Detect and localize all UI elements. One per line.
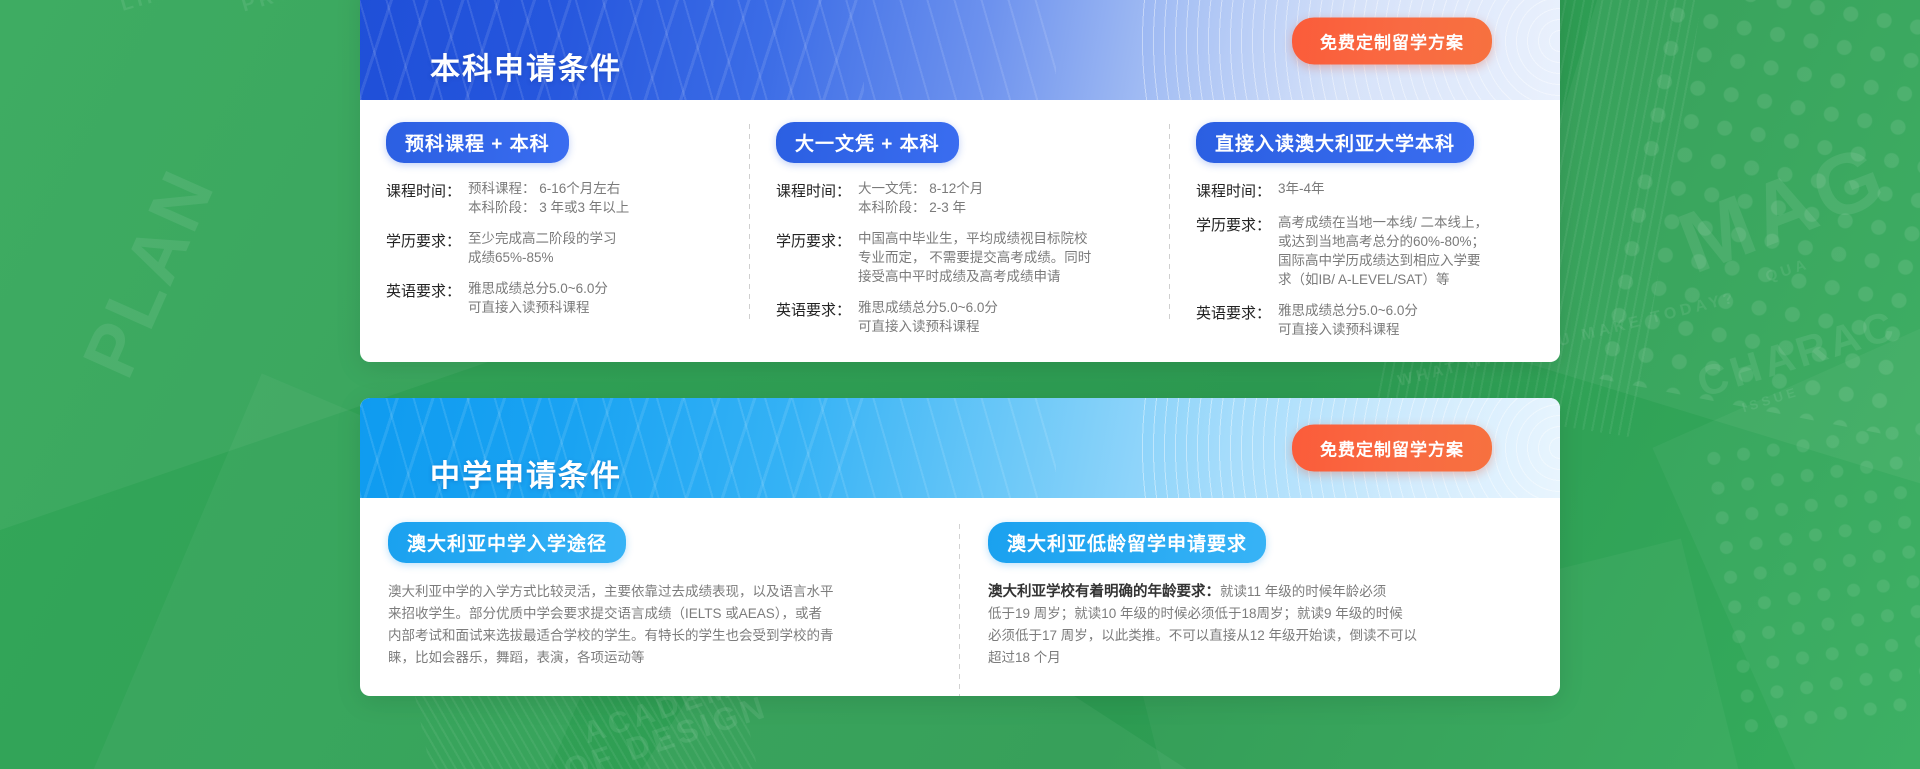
- requirement-row: 课程时间： 3年-4年: [1196, 179, 1534, 201]
- requirement-row: 课程时间： 预科课程： 6-16个月左右 本科阶段： 3 年或3 年以上: [386, 179, 724, 217]
- free-custom-plan-button-secondary[interactable]: 免费定制留学方案: [1292, 425, 1492, 472]
- requirement-row: 英语要求： 雅思成绩总分5.0~6.0分 可直接入读预科课程: [776, 298, 1144, 336]
- undergraduate-column-foundation: 预科课程 + 本科 课程时间： 预科课程： 6-16个月左右 本科阶段： 3 年…: [360, 122, 750, 351]
- pathway-pill-entry-routes: 澳大利亚中学入学途径: [388, 522, 626, 563]
- requirement-row: 学历要求： 至少完成高二阶段的学习 成绩65%-85%: [386, 229, 724, 267]
- row-value: 雅思成绩总分5.0~6.0分 可直接入读预科课程: [851, 298, 998, 336]
- requirement-rows: 课程时间： 3年-4年 学历要求： 高考成绩在当地一本线/ 二本线上， 或达到当…: [1196, 179, 1534, 339]
- undergraduate-column-direct-entry: 直接入读澳大利亚大学本科 课程时间： 3年-4年 学历要求： 高考成绩在当地一本…: [1170, 122, 1560, 351]
- row-label: 英语要求：: [776, 298, 851, 336]
- pathway-pill-direct-entry: 直接入读澳大利亚大学本科: [1196, 122, 1474, 163]
- secondary-columns: 澳大利亚中学入学途径 澳大利亚中学的入学方式比较灵活，主要依靠过去成绩表现，以及…: [360, 498, 1560, 683]
- requirement-row: 学历要求： 高考成绩在当地一本线/ 二本线上， 或达到当地高考总分的60%-80…: [1196, 213, 1534, 289]
- row-value: 大一文凭： 8-12个月 本科阶段： 2-3 年: [851, 179, 983, 217]
- undergraduate-column-diploma: 大一文凭 + 本科 课程时间： 大一文凭： 8-12个月 本科阶段： 2-3 年…: [750, 122, 1170, 351]
- undergraduate-banner: 本科申请条件 免费定制留学方案: [360, 0, 1560, 100]
- row-value: 预科课程： 6-16个月左右 本科阶段： 3 年或3 年以上: [461, 179, 629, 217]
- free-custom-plan-button-undergraduate[interactable]: 免费定制留学方案: [1292, 18, 1492, 65]
- row-value: 中国高中毕业生，平均成绩视目标院校 专业而定， 不需要提交高考成绩。同时 接受高…: [851, 229, 1091, 286]
- secondary-banner: 中学申请条件 免费定制留学方案: [360, 398, 1560, 498]
- requirement-row: 英语要求： 雅思成绩总分5.0~6.0分 可直接入读预科课程: [386, 279, 724, 317]
- undergraduate-requirements-card: 本科申请条件 免费定制留学方案 预科课程 + 本科 课程时间： 预科课程： 6-…: [360, 0, 1560, 362]
- requirement-row: 课程时间： 大一文凭： 8-12个月 本科阶段： 2-3 年: [776, 179, 1144, 217]
- secondary-column-age-requirements: 澳大利亚低龄留学申请要求 澳大利亚学校有着明确的年龄要求：就读11 年级的时候年…: [960, 522, 1560, 683]
- row-label: 课程时间：: [1196, 179, 1271, 201]
- undergraduate-banner-title: 本科申请条件: [430, 44, 622, 88]
- pathway-pill-diploma: 大一文凭 + 本科: [776, 122, 959, 163]
- row-label: 英语要求：: [386, 279, 461, 317]
- pathway-pill-age-requirements: 澳大利亚低龄留学申请要求: [988, 522, 1266, 563]
- age-requirements-lead: 澳大利亚学校有着明确的年龄要求：: [988, 584, 1220, 600]
- row-value: 雅思成绩总分5.0~6.0分 可直接入读预科课程: [1271, 301, 1418, 339]
- row-label: 学历要求：: [1196, 213, 1271, 289]
- pathway-pill-foundation: 预科课程 + 本科: [386, 122, 569, 163]
- row-label: 课程时间：: [776, 179, 851, 217]
- requirement-row: 英语要求： 雅思成绩总分5.0~6.0分 可直接入读预科课程: [1196, 301, 1534, 339]
- row-label: 学历要求：: [776, 229, 851, 286]
- row-value: 3年-4年: [1271, 179, 1325, 201]
- row-label: 学历要求：: [386, 229, 461, 267]
- age-requirements-paragraph: 澳大利亚学校有着明确的年龄要求：就读11 年级的时候年龄必须 低于19 周岁；就…: [988, 581, 1532, 669]
- secondary-school-requirements-card: 中学申请条件 免费定制留学方案 澳大利亚中学入学途径 澳大利亚中学的入学方式比较…: [360, 398, 1560, 696]
- row-label: 课程时间：: [386, 179, 461, 217]
- row-value: 雅思成绩总分5.0~6.0分 可直接入读预科课程: [461, 279, 608, 317]
- row-label: 英语要求：: [1196, 301, 1271, 339]
- secondary-banner-title: 中学申请条件: [430, 451, 622, 495]
- row-value: 高考成绩在当地一本线/ 二本线上， 或达到当地高考总分的60%-80%； 国际高…: [1271, 213, 1488, 289]
- requirement-row: 学历要求： 中国高中毕业生，平均成绩视目标院校 专业而定， 不需要提交高考成绩。…: [776, 229, 1144, 286]
- row-value: 至少完成高二阶段的学习 成绩65%-85%: [461, 229, 617, 267]
- requirement-rows: 课程时间： 大一文凭： 8-12个月 本科阶段： 2-3 年 学历要求： 中国高…: [776, 179, 1144, 336]
- requirement-rows: 课程时间： 预科课程： 6-16个月左右 本科阶段： 3 年或3 年以上 学历要…: [386, 179, 724, 317]
- entry-pathways-paragraph: 澳大利亚中学的入学方式比较灵活，主要依靠过去成绩表现，以及语言水平 来招收学生。…: [388, 581, 932, 669]
- secondary-column-entry-pathways: 澳大利亚中学入学途径 澳大利亚中学的入学方式比较灵活，主要依靠过去成绩表现，以及…: [360, 522, 960, 683]
- undergraduate-columns: 预科课程 + 本科 课程时间： 预科课程： 6-16个月左右 本科阶段： 3 年…: [360, 100, 1560, 351]
